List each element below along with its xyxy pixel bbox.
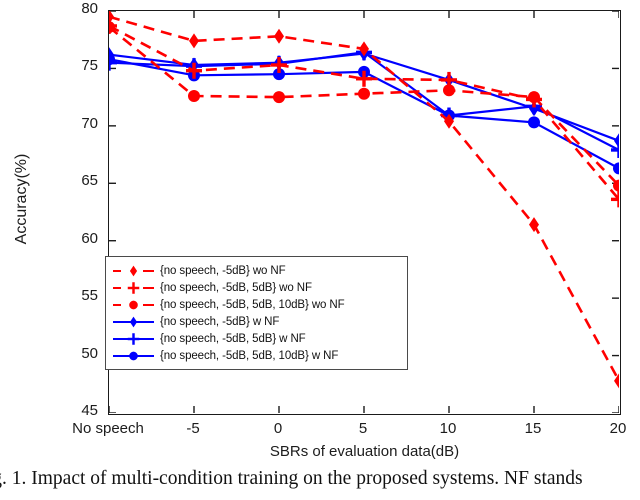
- figure-panel: 4550556065707580 Accuracy(%) No speech-5…: [0, 0, 640, 500]
- legend-item-label: {no speech, -5dB, 5dB} wo NF: [156, 282, 312, 294]
- legend-item[interactable]: {no speech, -5dB} w NF: [112, 313, 401, 330]
- y-tick-label: 75: [38, 57, 98, 74]
- chart-figure: 4550556065707580 Accuracy(%) No speech-5…: [0, 0, 640, 465]
- series-5: [109, 44, 619, 158]
- chart-legend: {no speech, -5dB} wo NF{no speech, -5dB,…: [105, 256, 408, 370]
- legend-item[interactable]: {no speech, -5dB, 5dB, 10dB} wo NF: [112, 296, 401, 313]
- legend-marker-circle-icon: [112, 348, 156, 364]
- x-tick-label: 0: [274, 420, 282, 437]
- legend-item[interactable]: {no speech, -5dB} wo NF: [112, 262, 401, 279]
- x-tick-label: -5: [186, 420, 199, 437]
- legend-item[interactable]: {no speech, -5dB, 5dB} wo NF: [112, 279, 401, 296]
- x-tick-label: 5: [359, 420, 367, 437]
- y-tick-label: 65: [38, 172, 98, 189]
- x-tick-label: 20: [610, 420, 627, 437]
- legend-item-label: {no speech, -5dB} w NF: [156, 316, 279, 328]
- y-axis-title: Accuracy(%): [13, 99, 31, 299]
- legend-item[interactable]: {no speech, -5dB, 5dB} w NF: [112, 330, 401, 347]
- legend-marker-diamond-icon: [112, 314, 156, 330]
- x-axis-title: SBRs of evaluation data(dB): [108, 443, 621, 460]
- x-tick-label: 15: [525, 420, 542, 437]
- legend-marker-plus-icon: [112, 280, 156, 296]
- x-tick-label: No speech: [72, 420, 144, 437]
- legend-marker-circle-icon: [112, 297, 156, 313]
- legend-item-label: {no speech, -5dB, 5dB} w NF: [156, 333, 306, 345]
- x-tick-label: 10: [440, 420, 457, 437]
- legend-marker-plus-icon: [112, 331, 156, 347]
- figure-caption-text: Fig. 1. Impact of multi-condition traini…: [0, 468, 640, 490]
- legend-item[interactable]: {no speech, -5dB, 5dB, 10dB} w NF: [112, 347, 401, 364]
- y-tick-label: 55: [38, 287, 98, 304]
- legend-marker-diamond-icon: [112, 263, 156, 279]
- y-tick-label: 70: [38, 115, 98, 132]
- legend-item-label: {no speech, -5dB, 5dB, 10dB} wo NF: [156, 299, 345, 311]
- y-tick-label: 80: [38, 0, 98, 17]
- legend-item-label: {no speech, -5dB, 5dB, 10dB} w NF: [156, 350, 338, 362]
- y-tick-label: 60: [38, 230, 98, 247]
- y-tick-label: 50: [38, 345, 98, 362]
- y-tick-label: 45: [38, 402, 98, 419]
- figure-caption: Fig. 1. Impact of multi-condition traini…: [0, 468, 640, 500]
- legend-item-label: {no speech, -5dB} wo NF: [156, 265, 286, 277]
